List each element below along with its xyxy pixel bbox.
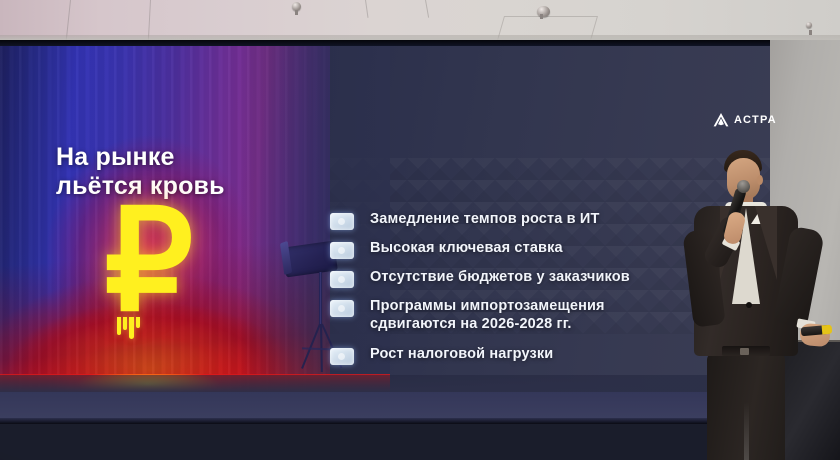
ruble-drip xyxy=(123,317,127,330)
astra-logo: АСТРА xyxy=(713,113,777,127)
slide-bullet-list: Замедление темпов роста в ИТ Высокая клю… xyxy=(330,210,710,374)
bullet-text: Высокая ключевая ставка xyxy=(370,239,563,257)
ruble-drip xyxy=(117,317,121,335)
room-ceiling xyxy=(0,0,840,40)
presenter-lapel xyxy=(755,206,777,280)
list-item: Высокая ключевая ставка xyxy=(330,239,710,259)
screenshot-root: На рынке льётся кровь ₽ Замедление темп xyxy=(0,0,840,460)
screen-top-bevel xyxy=(0,40,770,46)
presenter-jacket-button xyxy=(746,302,752,308)
bullet-text: Программы импортозамещения сдвигаются на… xyxy=(370,297,670,334)
bullet-marker-icon xyxy=(330,348,354,365)
ruble-glyph: ₽ xyxy=(84,195,214,327)
list-item: Рост налоговой нагрузки xyxy=(330,345,710,365)
presenter-belt-buckle xyxy=(740,348,749,355)
sprinkler-head-icon xyxy=(537,6,550,17)
bullet-marker-icon xyxy=(330,242,354,259)
ceiling-seam xyxy=(66,0,71,42)
bullet-marker-icon xyxy=(330,271,354,288)
list-item: Отсутствие бюджетов у заказчиков xyxy=(330,268,710,288)
ruble-drip xyxy=(136,317,140,328)
presenter-leg-gap xyxy=(744,402,749,460)
screen-bottom-frame xyxy=(0,418,772,424)
bullet-text: Отсутствие бюджетов у заказчиков xyxy=(370,268,630,286)
bullet-marker-icon xyxy=(330,300,354,317)
astra-wordmark: АСТРА xyxy=(734,114,777,126)
ceiling-seam xyxy=(148,0,151,40)
projection-screen: На рынке льётся кровь ₽ Замедление темп xyxy=(0,40,770,422)
sprinkler-head-icon xyxy=(806,22,812,28)
ruble-symbol-graphic: ₽ xyxy=(84,195,214,345)
sprinkler-head-icon xyxy=(292,2,301,11)
list-item: Замедление темпов роста в ИТ xyxy=(330,210,710,230)
bullet-marker-icon xyxy=(330,213,354,230)
ceiling-seam xyxy=(365,0,368,18)
astra-triangle-icon xyxy=(713,113,729,127)
ceiling-seam xyxy=(425,0,429,18)
bullet-text: Рост налоговой нагрузки xyxy=(370,345,553,363)
bullet-text: Замедление темпов роста в ИТ xyxy=(370,210,599,228)
lamp-pole xyxy=(319,272,322,326)
ruble-drip xyxy=(129,317,134,339)
list-item: Программы импортозамещения сдвигаются на… xyxy=(330,297,710,334)
presenter-ear xyxy=(757,175,763,185)
slide-title-line-1: На рынке xyxy=(56,143,306,172)
